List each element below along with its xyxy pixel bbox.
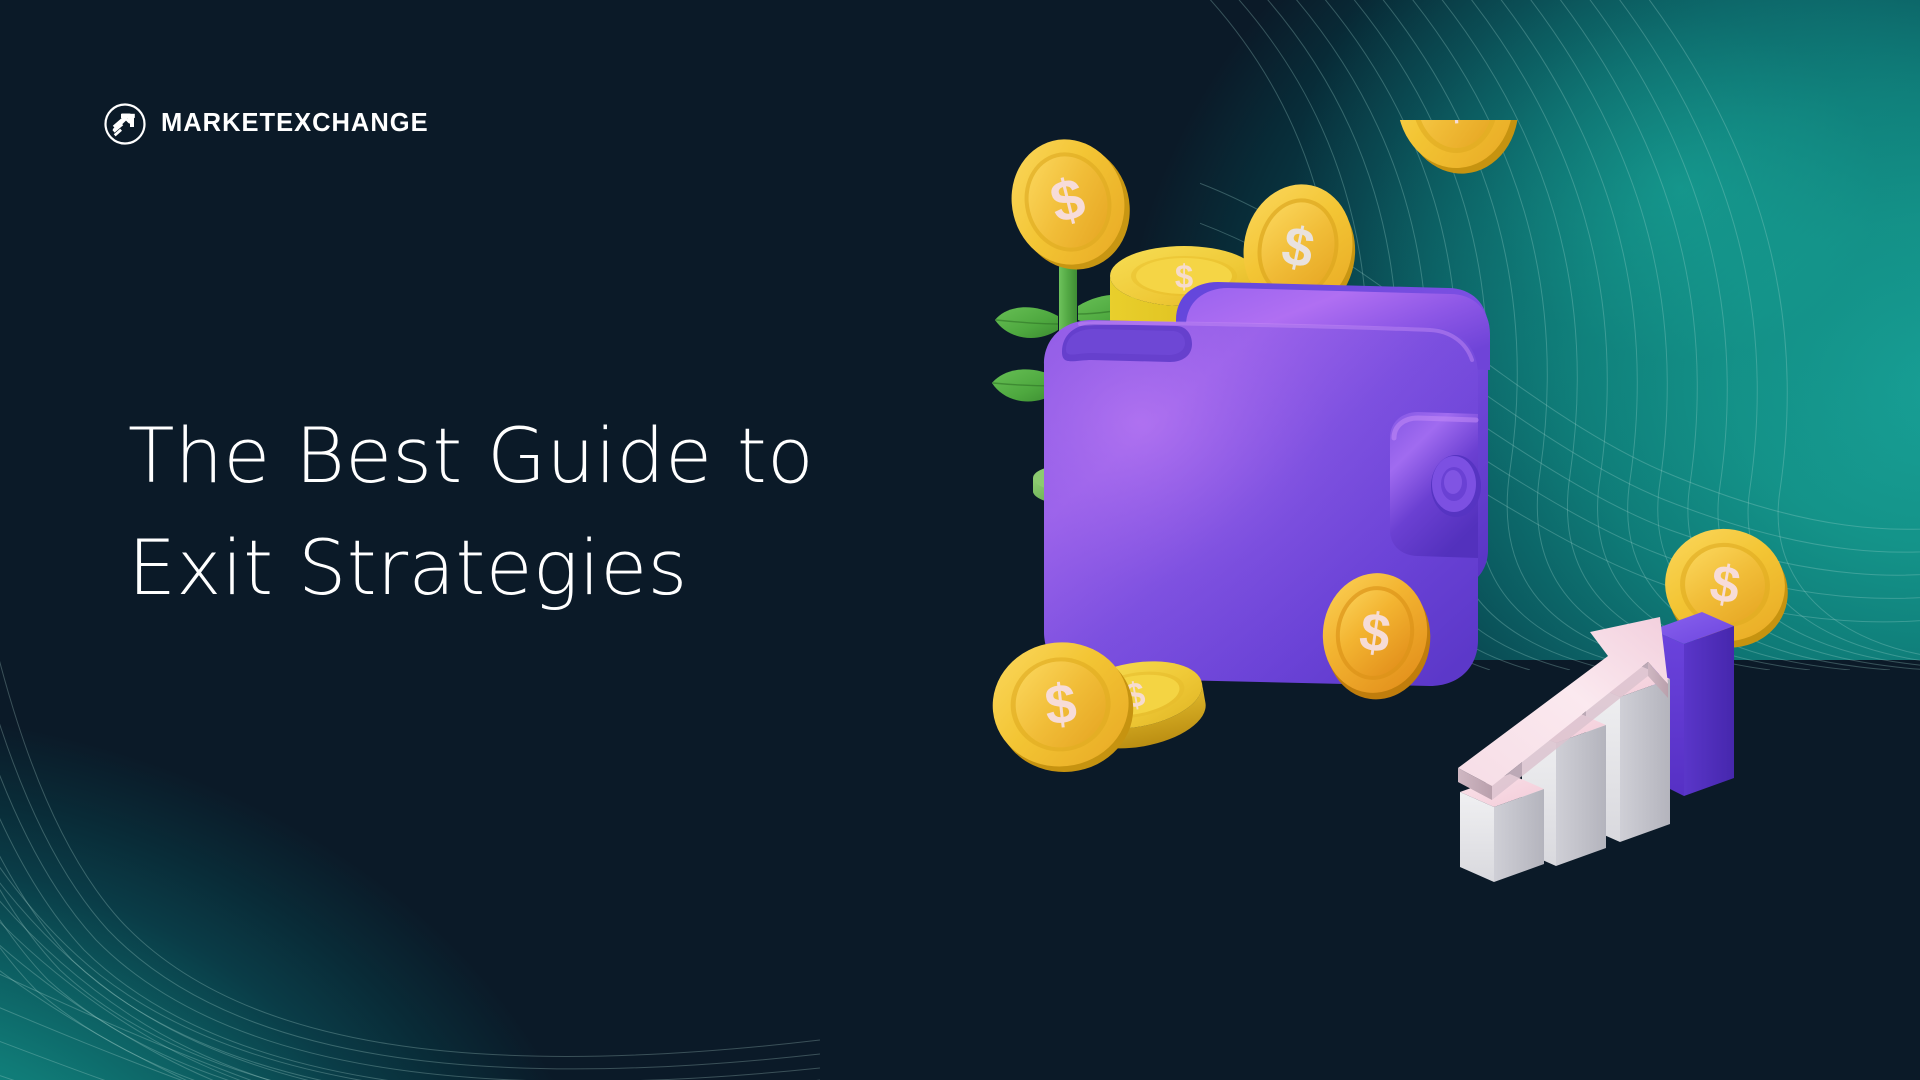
svg-text:$: $ bbox=[1436, 120, 1474, 133]
svg-text:$: $ bbox=[1042, 671, 1080, 737]
headline-line-2: Exit Strategies bbox=[128, 512, 988, 624]
marketing-banner: $ $ $ bbox=[0, 0, 1920, 1080]
hero-illustration: $ $ $ bbox=[980, 120, 1810, 920]
brand-name: MARKETEXCHANGE bbox=[161, 111, 429, 137]
upward-arrow-circle-icon bbox=[104, 103, 146, 145]
brand-logo[interactable]: MARKETEXCHANGE bbox=[104, 103, 429, 145]
bar-chart-growth-icon bbox=[1458, 612, 1734, 882]
headline-line-1: The Best Guide to bbox=[128, 400, 988, 512]
page-title: The Best Guide to Exit Strategies bbox=[128, 400, 988, 623]
svg-text:$: $ bbox=[1175, 258, 1193, 295]
coin-top-floating-icon: $ bbox=[1392, 120, 1523, 178]
